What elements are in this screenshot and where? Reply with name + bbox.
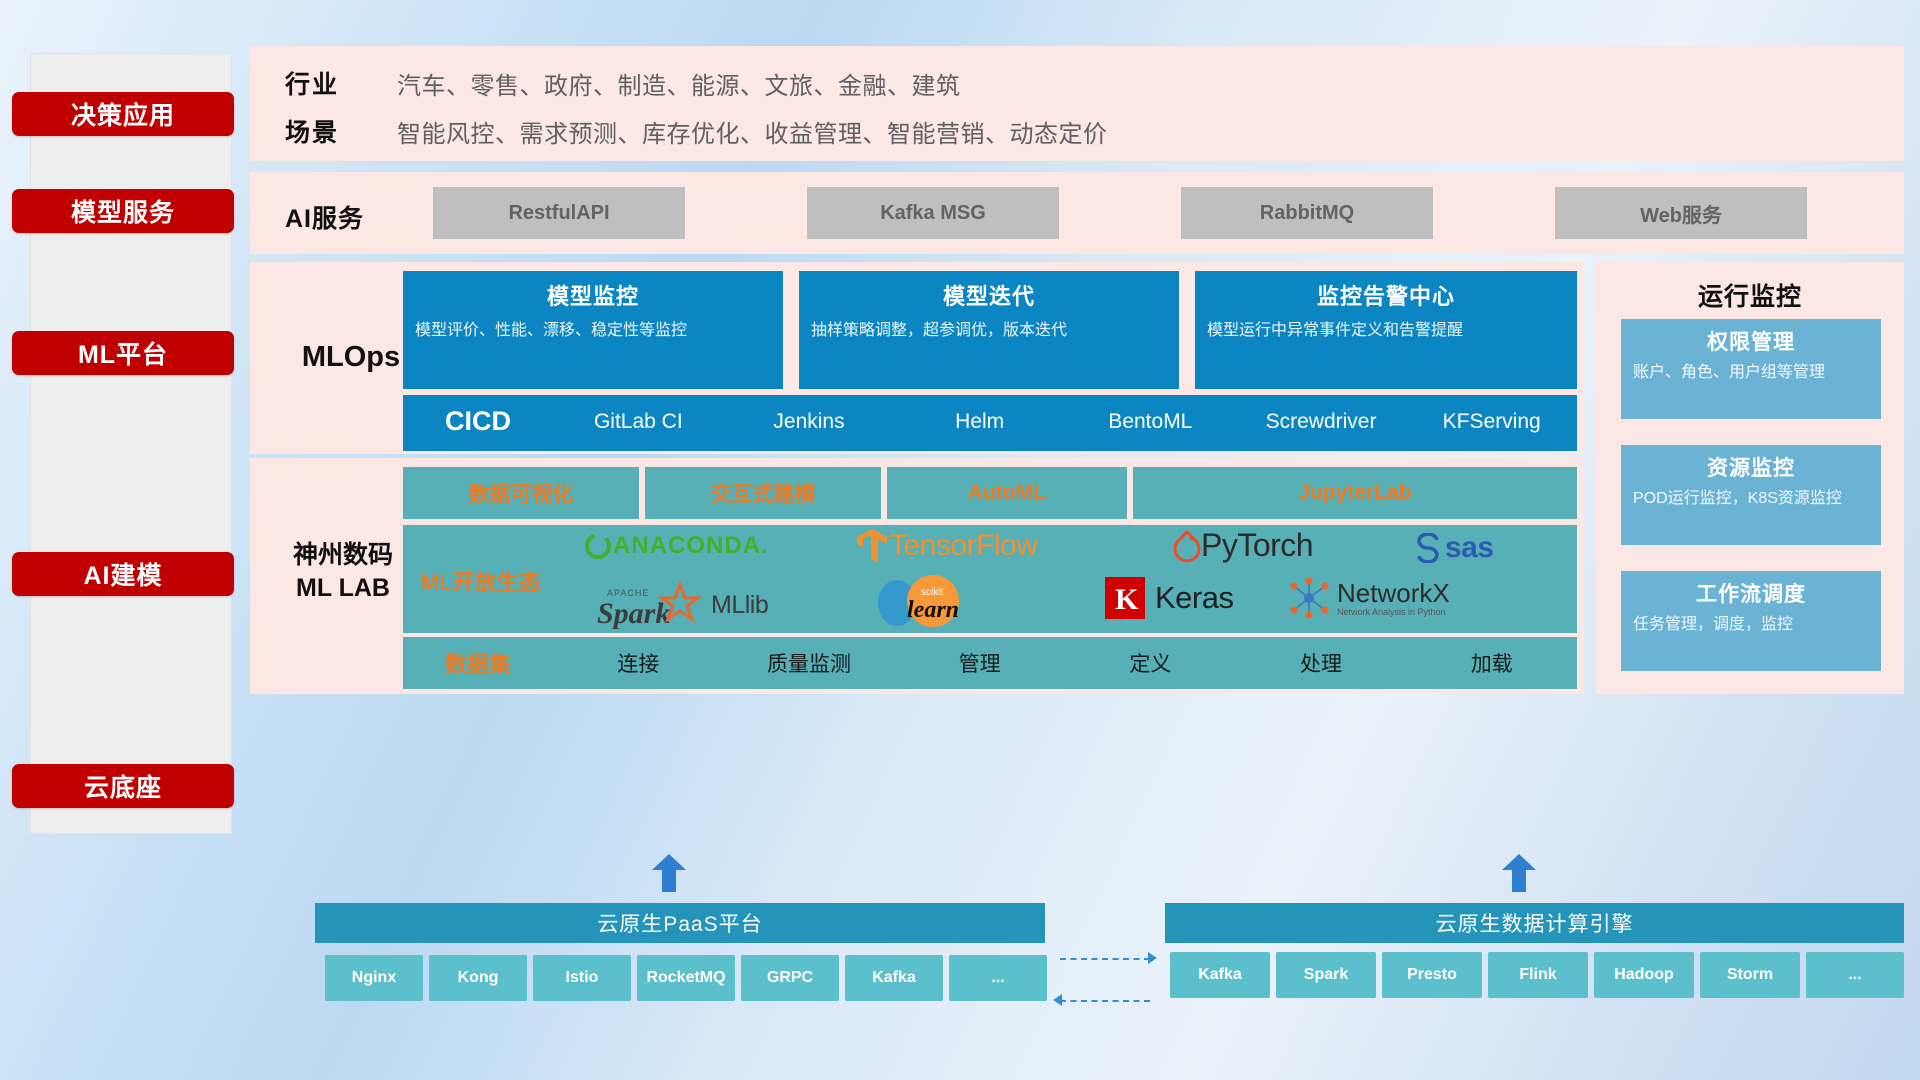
industry-key: 行业 [285,65,397,101]
cicd-item-helm[interactable]: Helm [894,395,1065,435]
connector-line-left [1060,1000,1150,1002]
layer-tag-label: 云底座 [84,768,162,804]
layer-tag-cloud-base[interactable]: 云底座 [12,764,234,808]
mlops-card-desc: 抽样策略调整，超参调优，版本迭代 [811,320,1167,342]
mlops-panel: MLOps 模型监控 模型评价、性能、漂移、稳定性等监控 模型迭代 抽样策略调整… [250,262,1584,454]
scenario-value: 智能风控、需求预测、库存优化、收益管理、智能营销、动态定价 [397,114,1108,149]
ml-lab-label-line1: 神州数码 [273,539,413,572]
networkx-logo: NetworkX Network Analysis in Python [1287,577,1450,619]
mlops-card-model-iteration[interactable]: 模型迭代 抽样策略调整，超参调优，版本迭代 [799,271,1179,389]
layer-tag-ml-platform[interactable]: ML平台 [12,331,234,375]
monitor-card-desc: POD运行监控，K8S资源监控 [1633,488,1869,510]
pytorch-logo: PyTorch [1173,527,1313,564]
compute-chip-presto[interactable]: Presto [1382,952,1482,998]
mlops-card-title: 监控告警中心 [1207,279,1565,311]
monitor-card-title: 工作流调度 [1633,578,1869,608]
lab-tab-interactive-modeling[interactable]: 交互式建模 [645,467,881,519]
lab-tab-data-visualization[interactable]: 数据可视化 [403,467,639,519]
ml-lab-label-line2: ML LAB [273,572,413,605]
ml-lab-label: 神州数码 ML LAB [273,539,413,604]
mlops-card-alert-center[interactable]: 监控告警中心 模型运行中异常事件定义和告警提醒 [1195,271,1577,389]
svg-text:K: K [1115,583,1139,616]
monitor-card-title: 资源监控 [1633,452,1869,482]
keras-logo: K Keras [1103,575,1233,621]
connector-line-right [1060,958,1150,960]
spark-mllib-logo: APACHE Spark MLlib [595,581,768,629]
svg-text:learn: learn [907,597,959,623]
compute-engine-bar[interactable]: 云原生数据计算引擎 [1165,903,1904,943]
paas-platform-bar[interactable]: 云原生PaaS平台 [315,903,1045,943]
layer-tag-label: 决策应用 [71,96,175,132]
layer-rail [30,53,232,834]
compute-chip-flink[interactable]: Flink [1488,952,1588,998]
mlops-card-model-monitoring[interactable]: 模型监控 模型评价、性能、漂移、稳定性等监控 [403,271,783,389]
compute-chip-more[interactable]: ... [1806,952,1904,998]
compute-chip-hadoop[interactable]: Hadoop [1594,952,1694,998]
paas-platform-title: 云原生PaaS平台 [597,908,762,938]
ml-ecosystem-band: ML开放生态 ANACONDA. TensorFlow PyTorch [403,525,1577,633]
tensorflow-logo: TensorFlow [855,527,1037,565]
scikit-learn-logo: scikit learn [871,575,1001,629]
anaconda-logo: ANACONDA. [583,531,769,561]
connector-arrow-left [1053,994,1062,1006]
service-chip-web-service[interactable]: Web服务 [1555,187,1807,239]
ml-lab-panel: 神州数码 ML LAB 数据可视化 交互式建模 AutoML JupyterLa… [250,458,1584,694]
dataset-label: 数据集 [403,647,553,679]
layer-tag-decision-apps[interactable]: 决策应用 [12,92,234,136]
paas-chip-kafka[interactable]: Kafka [845,955,943,1001]
lab-tab-jupyterlab[interactable]: JupyterLab [1133,467,1577,519]
paas-chip-nginx[interactable]: Nginx [325,955,423,1001]
dataset-item-manage[interactable]: 管理 [894,648,1065,678]
connector-arrow-right [1148,952,1157,964]
sas-logo: sas [1415,531,1494,565]
cicd-item-jenkins[interactable]: Jenkins [724,395,895,435]
monitor-card-desc: 账户、角色、用户组等管理 [1633,362,1869,384]
monitor-card-title: 权限管理 [1633,326,1869,356]
industry-value: 汽车、零售、政府、制造、能源、文旅、金融、建筑 [397,66,961,101]
compute-engine-title: 云原生数据计算引擎 [1436,908,1634,938]
paas-chip-rocketmq[interactable]: RocketMQ [637,955,735,1001]
monitor-card-workflow[interactable]: 工作流调度 任务管理，调度，监控 [1621,571,1881,671]
industry-row: 行业 汽车、零售、政府、制造、能源、文旅、金融、建筑 [285,65,961,101]
compute-up-arrow [1502,854,1536,892]
cicd-item-kfserving[interactable]: KFServing [1406,395,1577,435]
dataset-item-quality[interactable]: 质量监测 [724,648,895,678]
dataset-item-load[interactable]: 加载 [1406,648,1577,678]
layer-tag-model-service[interactable]: 模型服务 [12,189,234,233]
paas-chip-grpc[interactable]: GRPC [741,955,839,1001]
service-chip-kafka-msg[interactable]: Kafka MSG [807,187,1059,239]
applications-panel: 行业 汽车、零售、政府、制造、能源、文旅、金融、建筑 场景 智能风控、需求预测、… [250,46,1904,161]
lab-tab-automl[interactable]: AutoML [887,467,1127,519]
compute-chip-spark[interactable]: Spark [1276,952,1376,998]
cicd-item-screwdriver[interactable]: Screwdriver [1236,395,1407,435]
monitor-card-resource[interactable]: 资源监控 POD运行监控，K8S资源监控 [1621,445,1881,545]
layer-tag-label: AI建模 [83,556,162,592]
scenario-row: 场景 智能风控、需求预测、库存优化、收益管理、智能营销、动态定价 [285,113,1108,149]
mlops-card-title: 模型迭代 [811,279,1167,311]
mlops-card-title: 模型监控 [415,279,771,311]
cicd-item-gitlab-ci[interactable]: GitLab CI [553,395,724,435]
dataset-item-define[interactable]: 定义 [1065,648,1236,678]
paas-up-arrow [652,854,686,892]
cicd-label: CICD [403,395,553,437]
paas-chip-istio[interactable]: Istio [533,955,631,1001]
monitor-card-desc: 任务管理，调度，监控 [1633,614,1869,636]
paas-chip-kong[interactable]: Kong [429,955,527,1001]
compute-chip-storm[interactable]: Storm [1700,952,1800,998]
ml-ecosystem-title: ML开放生态 [421,565,541,597]
monitor-card-permission[interactable]: 权限管理 账户、角色、用户组等管理 [1621,319,1881,419]
dataset-band: 数据集 连接 质量监测 管理 定义 处理 加载 [403,637,1577,689]
cicd-bar: CICD GitLab CI Jenkins Helm BentoML Scre… [403,395,1577,451]
service-chip-restfulapi[interactable]: RestfulAPI [433,187,685,239]
layer-tag-label: 模型服务 [71,193,175,229]
mlops-label: MLOps [281,341,421,374]
dataset-item-connect[interactable]: 连接 [553,648,724,678]
layer-tag-label: ML平台 [78,335,168,371]
mlops-card-desc: 模型运行中异常事件定义和告警提醒 [1207,320,1565,342]
compute-chip-kafka[interactable]: Kafka [1170,952,1270,998]
scenario-key: 场景 [285,113,397,149]
svg-text:Spark: Spark [597,597,670,629]
cicd-item-bentoml[interactable]: BentoML [1065,395,1236,435]
service-chip-rabbitmq[interactable]: RabbitMQ [1181,187,1433,239]
ai-service-panel: AI服务 RestfulAPI Kafka MSG RabbitMQ Web服务 [250,172,1904,254]
mlops-card-desc: 模型评价、性能、漂移、稳定性等监控 [415,320,771,342]
paas-chip-more[interactable]: ... [949,955,1047,1001]
monitoring-panel: 运行监控 权限管理 账户、角色、用户组等管理 资源监控 POD运行监控，K8S资… [1596,262,1904,694]
layer-tag-ai-modeling[interactable]: AI建模 [12,552,234,596]
dataset-item-process[interactable]: 处理 [1236,648,1407,678]
monitoring-title: 运行监控 [1597,277,1903,313]
ai-service-label: AI服务 [285,199,364,235]
